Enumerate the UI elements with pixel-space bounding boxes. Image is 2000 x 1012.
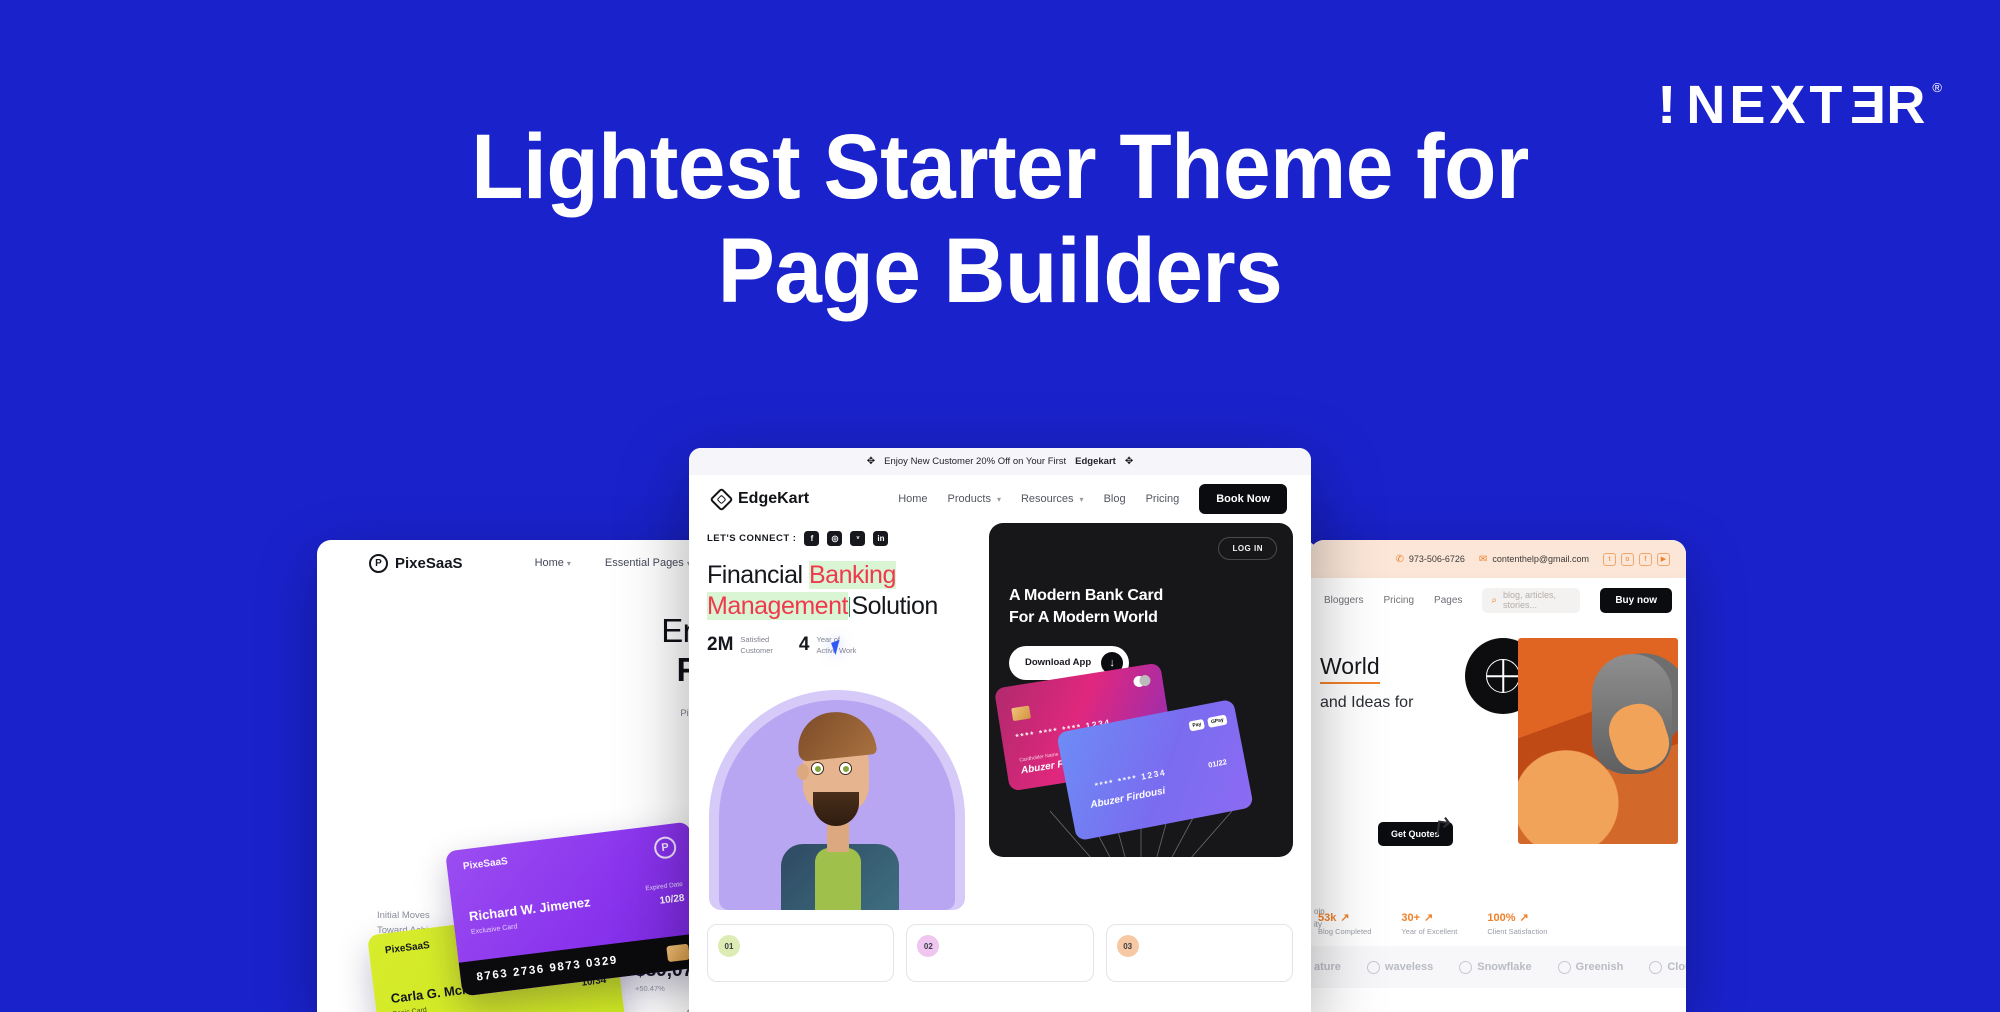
right-site-social-row: t o f ▶ [1603,553,1670,566]
facebook-icon[interactable]: f [1639,553,1652,566]
card-chip-icon [1011,706,1031,722]
apple-pay-icon: Pay [1189,719,1206,732]
logo-waveless: waveless [1367,961,1433,974]
logo-cloud: Clou [1649,961,1686,974]
right-browser-window[interactable]: ✆ 973-506-6726 ✉ contenthelp@gmail.com t… [1310,540,1686,1012]
credit-card-exclusive: PixeSaaS P Richard W. Jimenez Exclusive … [445,822,707,997]
waveless-mark-icon [1367,961,1380,974]
arrow-up-right-icon: ↗ [1520,911,1529,924]
feature-number-badge: 03 [1117,935,1139,957]
feature-card-03[interactable]: 03 [1106,924,1293,982]
book-now-button[interactable]: Book Now [1199,484,1287,514]
pixesaas-card-logo-icon: P [653,836,678,861]
facebook-icon[interactable]: f [804,531,819,546]
promo-banner-brand: Edgekart [1075,456,1116,467]
modern-bank-card-panel: LOG IN A Modern Bank Card For A Modern W… [989,523,1293,857]
instagram-icon[interactable]: ◎ [827,531,842,546]
g-pay-icon: GPay [1207,714,1227,727]
payment-badges: PayGPay [1189,714,1228,731]
dark-card-headline: A Modern Bank Card For A Modern World [1009,585,1273,630]
right-nav-item-pricing[interactable]: Pricing [1383,595,1414,606]
stat-year-of-excellent: 30+↗ Year of Excellent [1401,911,1457,936]
headline-static-2: Solution [851,592,937,620]
pixesaas-brand-label: PixeSaaS [395,555,463,572]
bank-cards-group: **** **** **** 1234 01/22 Cardholder Nam… [989,657,1293,857]
twitter-icon[interactable]: t [1603,553,1616,566]
logo-snowflake: Snowflake [1459,961,1531,974]
twitter-icon[interactable]: ᵛ [850,531,865,546]
right-site-navbar: Bloggers Pricing Pages ⌕ blog, articles,… [1310,578,1686,622]
center-browser-window[interactable]: ✥ Enjoy New Customer 20% Off on Your Fir… [689,448,1311,1012]
stat-active-work: 4 Year of Active Work [799,635,856,656]
buy-now-button[interactable]: Buy now [1600,588,1672,613]
sparkle-icon: ✥ [867,456,875,467]
right-nav-item-bloggers[interactable]: Bloggers [1324,595,1363,606]
edgekart-logo[interactable]: EdgeKart [713,490,809,508]
edgekart-hero: LET'S CONNECT : f ◎ ᵛ in Financial Banki… [689,523,1311,910]
pixesaas-logo[interactable]: P PixeSaaS [369,554,463,573]
chevron-down-icon: ▾ [997,495,1001,504]
lets-connect-label: LET'S CONNECT : [707,533,796,544]
arrow-up-right-icon: ↗ [1340,911,1349,924]
feature-card-02[interactable]: 02 [906,924,1093,982]
editorial-collage-image [1518,638,1678,844]
center-nav-item-home[interactable]: Home [898,493,927,505]
promo-banner: ✥ Enjoy New Customer 20% Off on Your Fir… [689,448,1311,475]
character-eye-left [811,762,824,775]
logo-greenish: Greenish [1558,961,1624,974]
center-nav-item-products[interactable]: Products▾ [948,493,1001,505]
feature-number-badge: 02 [917,935,939,957]
left-nav-item-home[interactable]: Home▾ [535,557,571,569]
right-nav-item-pages[interactable]: Pages [1434,595,1462,606]
right-site-topbar: ✆ 973-506-6726 ✉ contenthelp@gmail.com t… [1310,540,1686,578]
card-network-icon [1133,674,1152,688]
logo-ature: ature [1314,961,1341,973]
character-figure [767,712,909,910]
center-nav-item-resources[interactable]: Resources▾ [1021,493,1084,505]
curved-arrow-icon: ↱ [1430,811,1456,845]
lets-connect-row: LET'S CONNECT : f ◎ ᵛ in [707,531,975,546]
globe-icon [1486,659,1520,693]
promo-banner-text: Enjoy New Customer 20% Off on Your First [884,456,1066,467]
log-in-button[interactable]: LOG IN [1218,537,1277,560]
greenish-mark-icon [1558,961,1571,974]
chevron-down-icon: ▾ [1080,495,1084,504]
search-placeholder: blog, articles, stories... [1503,590,1571,610]
pixesaas-mark-icon: P [369,554,388,573]
character-hair [795,708,877,762]
arrow-up-right-icon: ↗ [1424,911,1433,924]
character-shirt [815,848,861,910]
feature-card-01[interactable]: 01 [707,924,894,982]
center-nav-item-pricing[interactable]: Pricing [1146,493,1180,505]
feature-number-badge: 01 [718,935,740,957]
character-ear [797,764,809,780]
edgekart-headline[interactable]: Financial Banking ManagementSolution [707,560,975,621]
character-beard [813,792,859,826]
youtube-icon[interactable]: ▶ [1657,553,1670,566]
cloud-mark-icon [1649,961,1662,974]
headline-highlight-management: Management [707,592,848,620]
edgekart-hero-right: LOG IN A Modern Bank Card For A Modern W… [989,523,1293,910]
edgekart-navbar: EdgeKart Home Products▾ Resources▾ Blog … [689,475,1311,523]
left-nav-item-essential-pages[interactable]: Essential Pages▾ [605,557,691,569]
sparkle-icon: ✥ [1125,456,1133,467]
character-illustration [707,670,975,910]
stat-blog-completed: 53k↗ Blog Completed [1318,911,1371,936]
edgekart-hero-left: LET'S CONNECT : f ◎ ᵛ in Financial Banki… [707,523,975,910]
headline-highlight-banking: Banking [809,561,896,589]
card-chip-icon [666,944,690,963]
phone-icon: ✆ [1395,554,1403,565]
search-icon: ⌕ [1491,595,1497,606]
email-contact[interactable]: ✉ contenthelp@gmail.com [1479,554,1589,565]
edgekart-brand-label: EdgeKart [738,490,809,508]
character-eye-right [839,762,852,775]
linkedin-icon[interactable]: in [873,531,888,546]
partner-logos-strip: ature waveless Snowflake Greenish Clou [1310,946,1686,988]
mail-icon: ✉ [1479,554,1487,565]
snowflake-mark-icon [1459,961,1472,974]
stat-client-satisfaction: 100%↗ Client Satisfaction [1487,911,1547,936]
right-site-stats-row: 53k↗ Blog Completed 30+↗ Year of Excelle… [1310,911,1686,936]
chevron-down-icon: ▾ [567,559,571,568]
browser-windows-stage: P PixeSaaS Home▾ Essential Pages▾ Blog▾ … [0,0,2000,1012]
phone-contact[interactable]: ✆ 973-506-6726 [1395,554,1464,565]
stat-satisfied-customer: 2M Satisfied Customer [707,635,773,656]
edgekart-feature-cards: 01 02 03 [689,910,1311,982]
instagram-icon[interactable]: o [1621,553,1634,566]
edgekart-menu: Home Products▾ Resources▾ Blog Pricing B… [898,484,1287,514]
edgekart-diamond-icon [709,487,733,511]
right-site-hero: World and Ideas for Get Quotes ↱ oin ity… [1310,622,1686,1012]
right-site-search-field[interactable]: ⌕ blog, articles, stories... [1482,588,1580,613]
headline-static-1: Financial [707,561,809,589]
center-nav-item-blog[interactable]: Blog [1104,493,1126,505]
